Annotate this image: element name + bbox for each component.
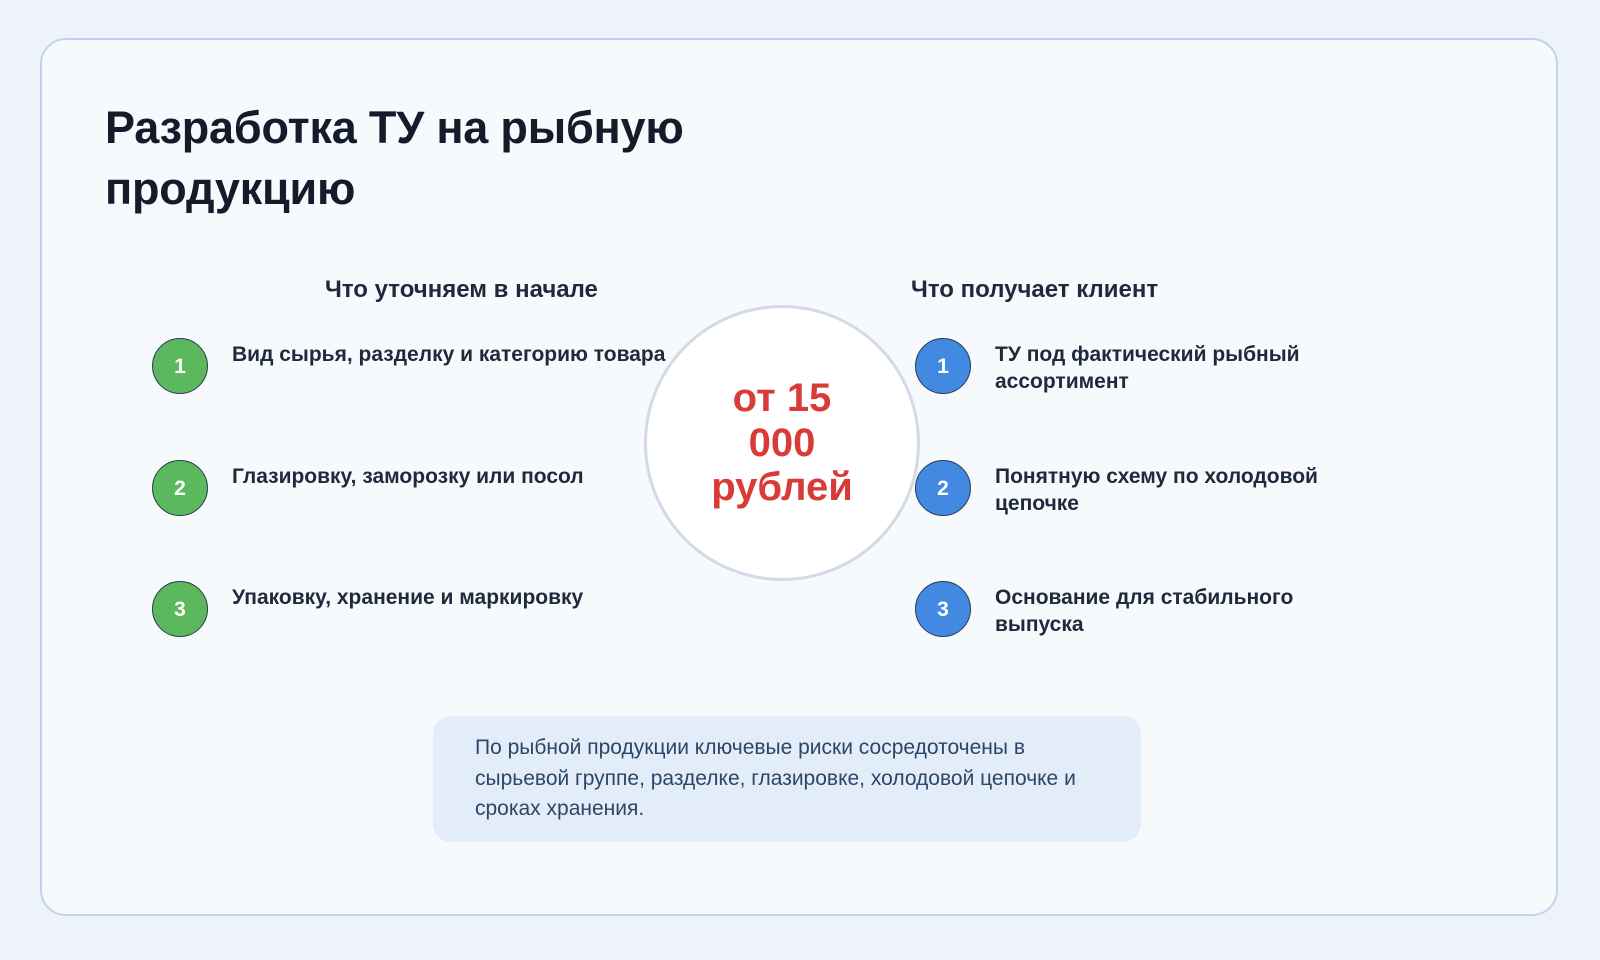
- left-column-heading: Что уточняем в начале: [325, 276, 598, 304]
- list-item-label: Глазировку, заморозку или посол: [232, 460, 584, 491]
- list-item: 3 Упаковку, хранение и маркировку: [152, 581, 672, 637]
- step-number-badge: 3: [152, 581, 208, 637]
- list-item: 2 Понятную схему по холодовой цепочке: [915, 460, 1375, 518]
- step-number-badge: 1: [152, 338, 208, 394]
- page-title: Разработка ТУ на рыбную продукцию: [105, 98, 745, 220]
- step-number-badge: 1: [915, 338, 971, 394]
- step-number-badge: 2: [152, 460, 208, 516]
- list-item-label: Понятную схему по холодовой цепочке: [995, 460, 1375, 518]
- list-item-label: Основание для стабильного выпуска: [995, 581, 1375, 639]
- list-item-label: Упаковку, хранение и маркировку: [232, 581, 583, 612]
- right-column-heading: Что получает клиент: [911, 276, 1158, 304]
- step-number-badge: 3: [915, 581, 971, 637]
- list-item-label: ТУ под фактический рыбный ассортимент: [995, 338, 1375, 396]
- list-item-label: Вид сырья, разделку и категорию товара: [232, 338, 665, 369]
- list-item: 3 Основание для стабильного выпуска: [915, 581, 1375, 639]
- note-box: По рыбной продукции ключевые риски сосре…: [433, 716, 1141, 842]
- list-item: 1 ТУ под фактический рыбный ассортимент: [915, 338, 1375, 396]
- infographic-root: Разработка ТУ на рыбную продукцию Что ут…: [0, 0, 1600, 960]
- price-label: от 15 000 рублей: [697, 376, 867, 510]
- price-circle: от 15 000 рублей: [644, 305, 920, 581]
- note-text: По рыбной продукции ключевые риски сосре…: [433, 733, 1141, 824]
- list-item: 2 Глазировку, заморозку или посол: [152, 460, 672, 516]
- list-item: 1 Вид сырья, разделку и категорию товара: [152, 338, 672, 394]
- step-number-badge: 2: [915, 460, 971, 516]
